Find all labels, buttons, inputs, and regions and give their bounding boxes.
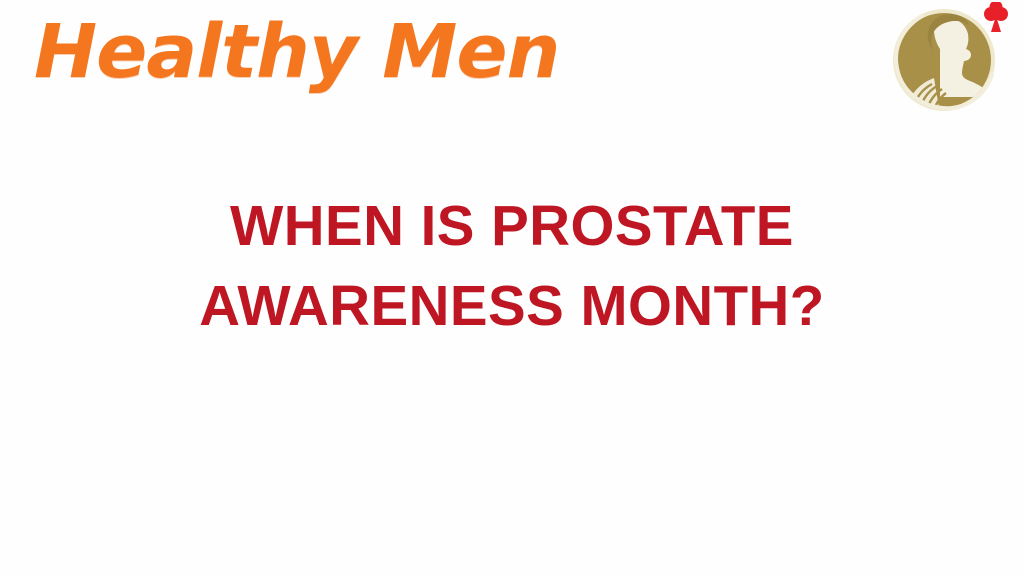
headline-line-1: WHEN IS PROSTATE	[5, 186, 1019, 266]
header: Healthy Men	[0, 0, 1024, 130]
brand-logo[interactable]	[888, 2, 1014, 114]
slide-canvas: Healthy Men	[0, 0, 1024, 576]
page-title: WHEN IS PROSTATE AWARENESS MONTH?	[5, 186, 1019, 346]
red-clover-icon	[984, 2, 1008, 32]
headline-line-2: AWARENESS MONTH?	[5, 266, 1019, 346]
brand-wordmark: Healthy Men	[34, 6, 559, 98]
